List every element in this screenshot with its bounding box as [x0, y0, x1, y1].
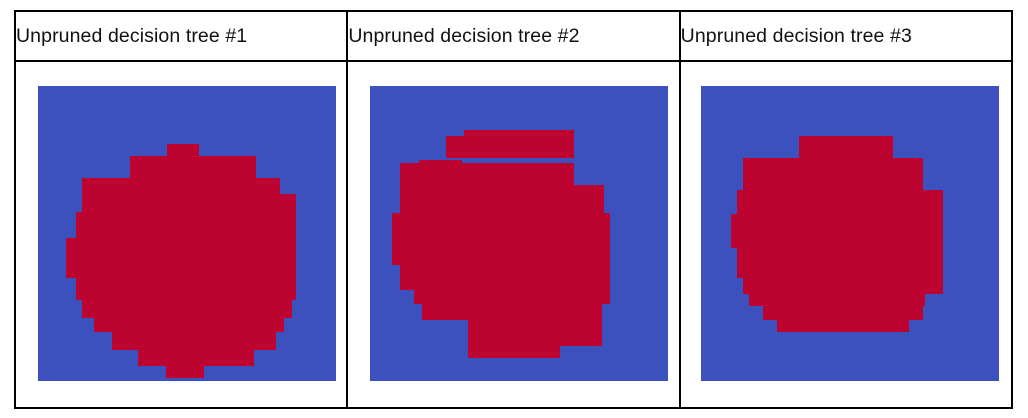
table-body	[15, 61, 1012, 408]
decision-region-rect	[731, 214, 943, 248]
cell-plot-tree-2	[347, 61, 679, 408]
decision-region-rect	[112, 332, 276, 350]
decision-boundary-plot-3	[701, 86, 999, 381]
decision-region-rect	[400, 185, 604, 213]
decision-region-rect	[167, 144, 199, 156]
decision-boundary-plot-1	[38, 86, 336, 381]
decision-region-rect	[130, 156, 256, 178]
decision-region-rect	[763, 306, 923, 320]
decision-boundary-svg-2	[370, 86, 668, 381]
decision-boundary-svg-3	[701, 86, 999, 381]
column-header-tree-2: Unpruned decision tree #2	[347, 11, 679, 61]
decision-region-rect	[749, 294, 925, 306]
table-row	[15, 61, 1012, 408]
table-header-row-group: Unpruned decision tree #1 Unpruned decis…	[15, 11, 1012, 61]
decision-tree-comparison-table: Unpruned decision tree #1 Unpruned decis…	[14, 10, 1013, 409]
table-header-row: Unpruned decision tree #1 Unpruned decis…	[15, 11, 1012, 61]
column-header-tree-1: Unpruned decision tree #1	[15, 11, 347, 61]
decision-region-rect	[414, 290, 610, 304]
decision-region-rect	[392, 213, 610, 265]
decision-region-rect	[737, 248, 943, 278]
decision-region-rect	[76, 212, 296, 238]
decision-region-rect	[743, 158, 923, 190]
decision-region-rect	[799, 136, 893, 158]
decision-region-rect	[82, 194, 296, 212]
decision-region-rect	[400, 163, 574, 185]
cell-plot-tree-1	[15, 61, 347, 408]
page-root: Unpruned decision tree #1 Unpruned decis…	[0, 0, 1028, 418]
decision-region-rect	[743, 278, 943, 294]
decision-region-rect	[82, 178, 280, 194]
decision-region-rect	[468, 320, 602, 346]
decision-region-rect	[94, 318, 284, 332]
decision-region-rect	[422, 304, 602, 320]
decision-region-rect	[76, 278, 296, 300]
column-header-tree-3: Unpruned decision tree #3	[680, 11, 1012, 61]
decision-region-rect	[66, 238, 296, 278]
decision-region-rect	[138, 350, 254, 366]
decision-region-rect	[400, 265, 610, 290]
decision-region-rect	[468, 346, 560, 358]
decision-region-rect	[777, 320, 909, 332]
decision-region-rect	[419, 160, 462, 163]
cell-plot-tree-3	[680, 61, 1012, 408]
decision-boundary-svg-1	[38, 86, 336, 381]
decision-region-rect	[166, 366, 204, 378]
decision-region-rect	[82, 300, 292, 318]
decision-boundary-plot-2	[370, 86, 668, 381]
decision-region-rect	[464, 130, 574, 142]
decision-region-rect	[737, 190, 943, 214]
